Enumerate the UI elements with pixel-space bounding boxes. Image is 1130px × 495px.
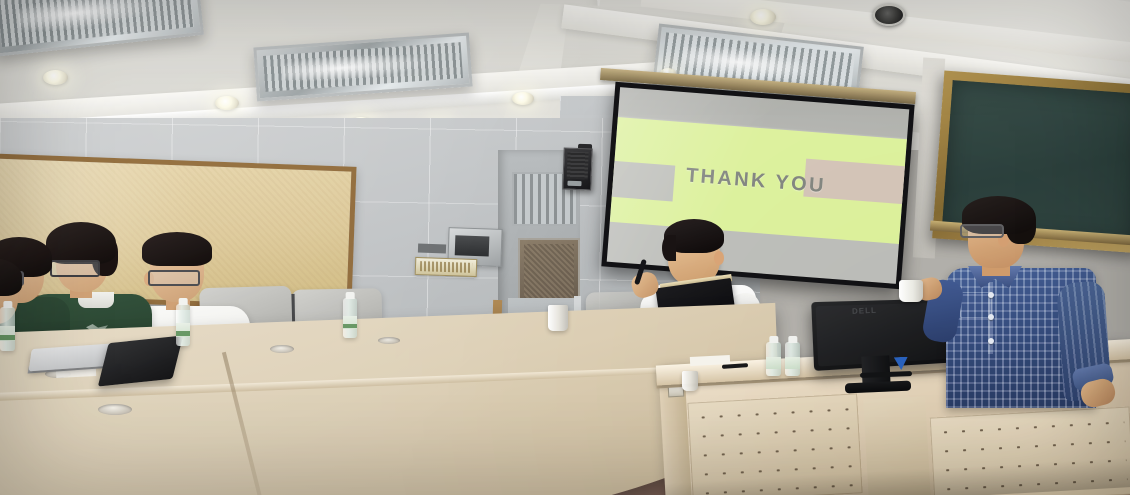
wall-sign-plaque [415,257,478,277]
ceiling-speaker-icon [873,4,905,26]
presenter-hair-side [662,235,676,261]
shirt-button [988,338,994,344]
wall-cabinet [518,238,580,304]
paper-cup-held [899,280,923,302]
paper-cup [548,305,568,331]
downlight-icon [215,96,239,110]
water-bottle [176,304,190,346]
wall-speaker-icon [562,148,592,191]
water-bottle [0,307,15,351]
downlight-icon [750,9,776,25]
paper-cup [682,371,698,391]
presenter-ear [714,251,724,265]
downlight-icon [43,70,68,85]
slide-accent-rect-left [612,161,675,201]
wall-bracket [418,244,446,254]
water-bottle [343,298,357,338]
water-bottle [785,342,800,376]
cable-grommet [98,404,132,415]
cable-grommet [378,337,400,344]
cable-grommet [270,345,294,353]
water-bottle [766,342,781,376]
eyeglasses-icon [960,224,1004,238]
downlight-icon [512,92,534,105]
shirt-button [988,314,994,320]
attendee-standing [938,196,1128,406]
shirt-button [988,292,994,298]
classroom-photo: THANK YOU [0,0,1130,495]
